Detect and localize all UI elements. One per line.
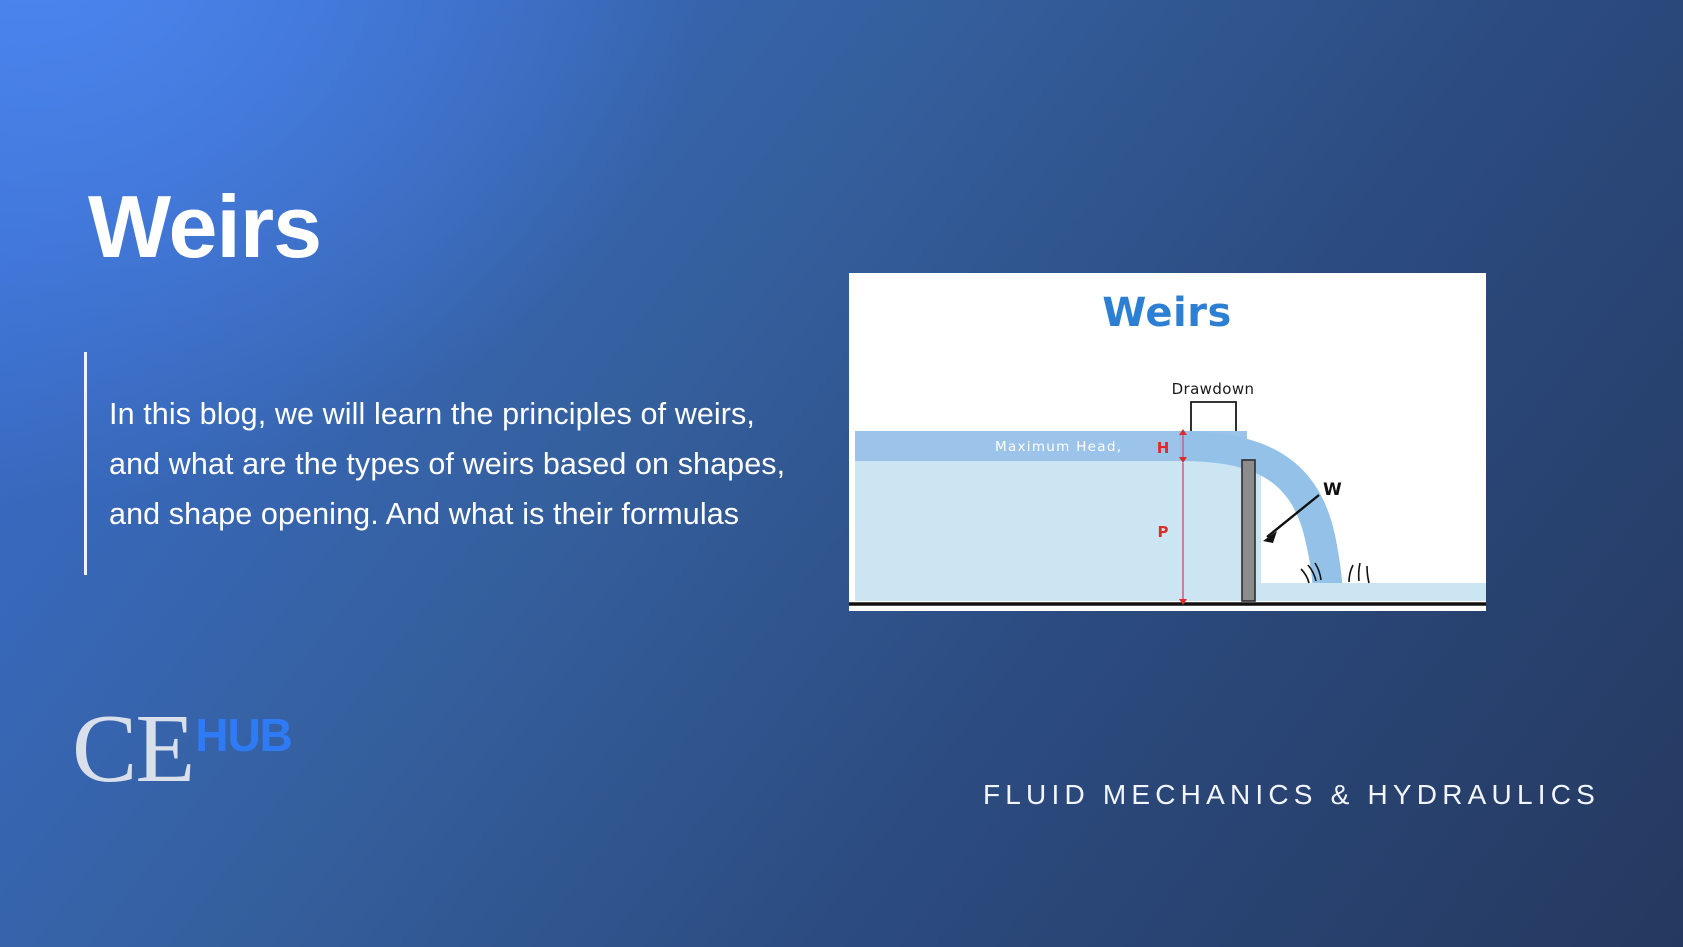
accent-rule	[84, 352, 87, 575]
maximum-head-label: Maximum Head,	[995, 439, 1122, 455]
nappe-label: W	[1323, 480, 1342, 500]
logo-mark-ce: CE	[72, 706, 193, 792]
weir-diagram-card: Weirs Drawdown Maximum Head,	[849, 273, 1486, 611]
page-title: Weirs	[88, 181, 321, 273]
drawdown-label: Drawdown	[1172, 380, 1255, 398]
slide-canvas: Weirs In this blog, we will learn the pr…	[0, 0, 1683, 947]
blurb-text: In this blog, we will learn the principl…	[109, 383, 814, 545]
diagram-title: Weirs	[1102, 290, 1232, 336]
brand-logo[interactable]: CE HUB	[72, 706, 292, 792]
weir-diagram-svg: Weirs Drawdown Maximum Head,	[849, 273, 1486, 611]
reservoir-water-body	[855, 460, 1261, 601]
tailwater	[1261, 583, 1486, 601]
crest-height-symbol-label: P	[1158, 523, 1169, 541]
footer-tagline: FLUID MECHANICS & HYDRAULICS	[983, 779, 1600, 811]
logo-word-hub: HUB	[195, 708, 292, 762]
weir-plate	[1242, 460, 1255, 601]
head-symbol-label: H	[1157, 439, 1170, 457]
blurb-block: In this blog, we will learn the principl…	[84, 352, 814, 575]
